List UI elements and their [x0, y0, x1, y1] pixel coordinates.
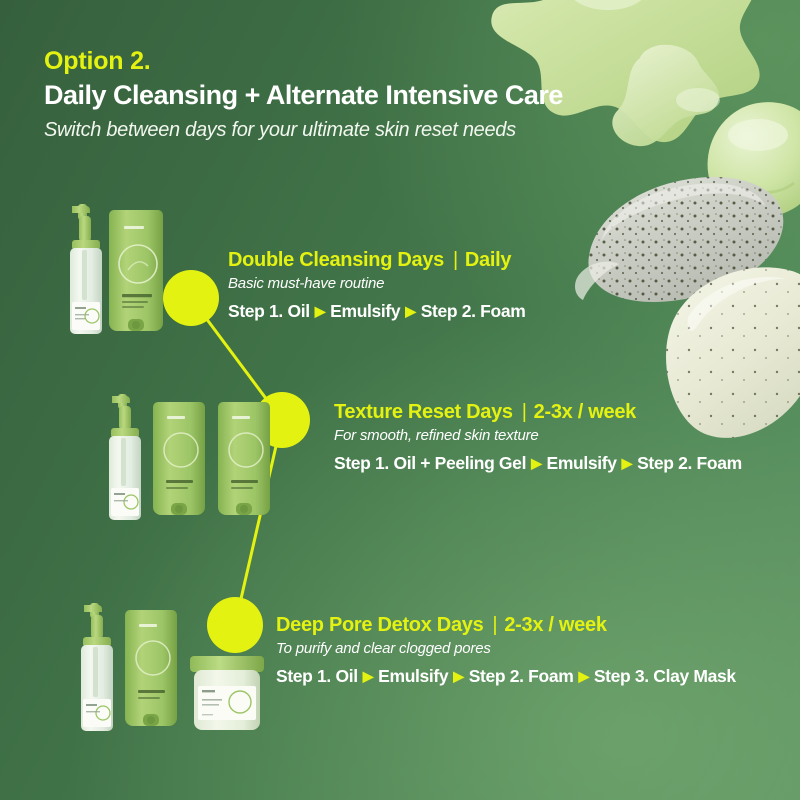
- step-arrow-icon: ▶: [358, 668, 378, 684]
- option-label: Option 2.: [44, 48, 684, 75]
- routine-block-double-cleansing: Double Cleansing Days|Daily Basic must-h…: [228, 249, 525, 321]
- routine-name-3: Deep Pore Detox Days: [276, 614, 483, 636]
- routine-separator-1: |: [444, 249, 465, 271]
- routine-frequency-1: Daily: [465, 249, 511, 271]
- page-title: Daily Cleansing + Alternate Intensive Ca…: [44, 80, 684, 110]
- routine-frequency-2: 2-3x / week: [534, 401, 636, 423]
- step-2-3: Step 2. Foam: [637, 453, 742, 473]
- step-3-2: Emulsify: [378, 666, 448, 686]
- routine-title-3: Deep Pore Detox Days|2-3x / week: [276, 614, 736, 636]
- header-block: Option 2. Daily Cleansing + Alternate In…: [44, 48, 684, 142]
- step-2-1: Step 1. Oil + Peeling Gel: [334, 453, 526, 473]
- routine-description-2: For smooth, refined skin texture: [334, 428, 742, 445]
- step-3-4: Step 3. Clay Mask: [594, 666, 736, 686]
- routine-steps-3: Step 1. Oil▶Emulsify▶Step 2. Foam▶Step 3…: [276, 667, 736, 686]
- step-arrow-icon: ▶: [310, 303, 330, 319]
- step-2-2: Emulsify: [547, 453, 617, 473]
- routine-name-1: Double Cleansing Days: [228, 249, 444, 271]
- product-group-double-cleansing: [58, 196, 213, 346]
- routine-steps-2: Step 1. Oil + Peeling Gel▶Emulsify▶Step …: [334, 454, 742, 473]
- routine-block-texture-reset: Texture Reset Days|2-3x / week For smoot…: [334, 401, 742, 473]
- step-3-1: Step 1. Oil: [276, 666, 358, 686]
- step-arrow-icon: ▶: [617, 455, 637, 471]
- routine-frequency-3: 2-3x / week: [504, 614, 606, 636]
- routine-separator-2: |: [513, 401, 534, 423]
- product-group-texture-reset: [98, 388, 328, 533]
- step-arrow-icon: ▶: [400, 303, 420, 319]
- routine-title-2: Texture Reset Days|2-3x / week: [334, 401, 742, 423]
- routine-steps-1: Step 1. Oil▶Emulsify▶Step 2. Foam: [228, 302, 525, 321]
- routine-description-1: Basic must-have routine: [228, 276, 525, 293]
- infographic-canvas: Option 2. Daily Cleansing + Alternate In…: [0, 0, 800, 800]
- step-1-3: Step 2. Foam: [421, 301, 526, 321]
- routine-name-2: Texture Reset Days: [334, 401, 513, 423]
- routine-description-3: To purify and clear clogged pores: [276, 641, 736, 658]
- step-3-3: Step 2. Foam: [469, 666, 574, 686]
- gel-blob-decoration: [700, 95, 800, 225]
- routine-title-1: Double Cleansing Days|Daily: [228, 249, 525, 271]
- step-arrow-icon: ▶: [526, 455, 546, 471]
- step-1-2: Emulsify: [330, 301, 400, 321]
- step-1-1: Step 1. Oil: [228, 301, 310, 321]
- product-group-deep-pore-detox: [68, 598, 288, 748]
- clay-scrub-swatch: [575, 160, 790, 325]
- routine-separator-3: |: [483, 614, 504, 636]
- page-subtitle: Switch between days for your ultimate sk…: [44, 119, 684, 142]
- step-arrow-icon: ▶: [573, 668, 593, 684]
- step-arrow-icon: ▶: [448, 668, 468, 684]
- routine-block-deep-pore-detox: Deep Pore Detox Days|2-3x / week To puri…: [276, 614, 736, 686]
